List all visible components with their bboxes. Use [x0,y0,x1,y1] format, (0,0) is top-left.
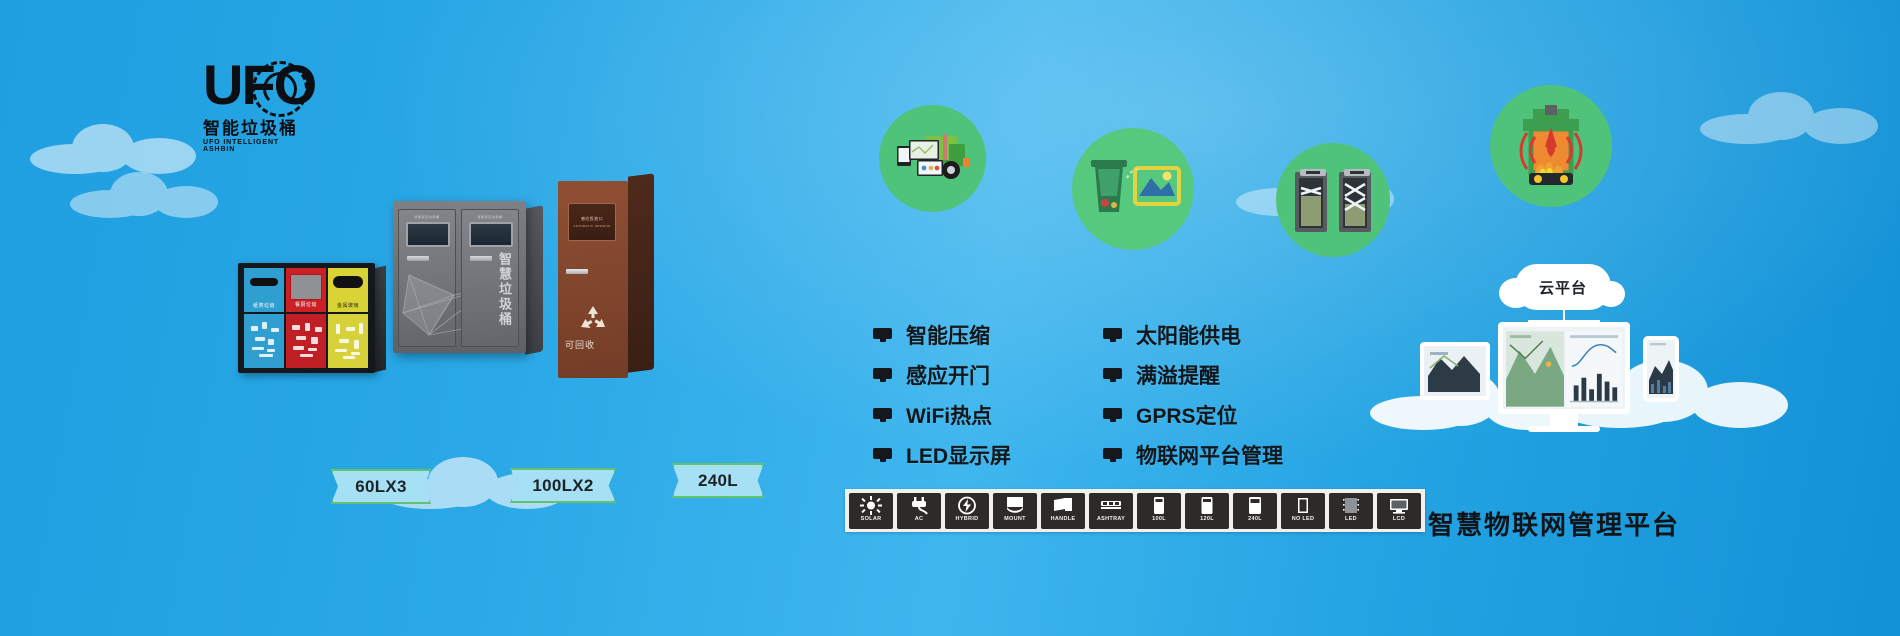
brown-screen-text: 感应投放口 AUTOMATIC OPENING [569,204,615,240]
device-tablet [1420,342,1490,400]
kitchen-graphic [289,318,323,364]
spec-chip-solar[interactable]: SOLAR [849,493,893,529]
brown-bin-side-panel [628,173,654,372]
brand-logo: UFO 智能垃圾桶 UFO INTELLIGENT ASHBIN [203,57,308,149]
spec-chip-handle[interactable]: HANDLE [1041,493,1085,529]
spec-chip-mount[interactable]: MOUNT [993,493,1037,529]
compression-icon [1287,164,1379,236]
brown-bin-face: 感应投放口 AUTOMATIC OPENING 可回收 [558,181,628,378]
metal-glass-graphic [331,318,365,364]
compartment-paper: 纸类垃圾 [244,268,284,368]
phone-screen [1647,340,1675,398]
cloud-platform-scene: 云平台 [1400,270,1730,470]
feature-label: 太阳能供电 [1136,320,1241,350]
lcd-icon [1387,496,1411,515]
spec-chip-label: 240L [1248,516,1262,522]
spec-chip-ac[interactable]: AC [897,493,941,529]
cloud-platform-tag: 云平台 [1515,264,1611,310]
feature-item: 感应开门 [873,362,1011,388]
product-three-compartment-bin: 纸类垃圾 餐厨垃圾 [238,263,375,373]
compartment-kitchen-label: 餐厨垃圾 [286,301,326,308]
monitor-bullet-icon [1103,368,1122,382]
monitor-screen [1503,327,1625,409]
compartment-kitchen-door [286,314,326,368]
gray-bin-door-right: 智能感应垃圾桶 智慧垃圾桶 [461,209,519,347]
monitor-base [1528,426,1600,432]
capacity-ribbon-240l: 240L [672,463,764,498]
feature-item: LED显示屏 [873,442,1011,468]
feature-list: 智能压缩 感应开门 WiFi热点 LED显示屏 太阳能供电 满溢提醒 [873,322,1283,468]
gray-bin-screen-left [406,222,450,247]
feature-label: 物联网平台管理 [1136,440,1283,470]
fleet-monitoring-icon [891,128,975,190]
feature-item: GPRS定位 [1103,402,1283,428]
brown-screen-caption: 感应投放口 [581,216,603,222]
compartment-metal-door [328,314,368,368]
metal-glass-slot [333,276,363,288]
spec-icon-strip: SOLAR AC HYBRID [845,489,1425,532]
spec-chip-led[interactable]: LED [1329,493,1373,529]
spec-chip-label: MOUNT [1004,516,1026,522]
mount-icon [1003,496,1027,515]
spec-chip-label: 120L [1200,516,1214,522]
feature-item: 太阳能供电 [1103,322,1283,348]
device-phone [1643,336,1679,402]
promo-banner: UFO 智能垃圾桶 UFO INTELLIGENT ASHBIN 纸类垃圾 [0,0,1900,636]
gray-screen-caption-right: 智能感应垃圾桶 [471,215,509,219]
monitor-bullet-icon [1103,448,1122,462]
paper-slot [250,278,278,286]
logo-chinese-name: 智能垃圾桶 [203,119,308,138]
bin-240l-icon [1243,496,1267,515]
compartment-kitchen-top: 餐厨垃圾 [286,268,326,312]
compartment-paper-top: 纸类垃圾 [244,268,284,312]
feature-label: LED显示屏 [906,440,1011,470]
capacity-ribbon-60lx3: 60LX3 [331,469,431,504]
tablet-screen [1424,346,1486,396]
spec-chip-label: HANDLE [1051,516,1076,522]
spec-chip-label: HYBRID [956,516,979,522]
gray-screen-caption-left: 智能感应垃圾桶 [408,215,446,219]
no-led-icon [1291,496,1315,515]
product-brown-recycle-bin: 感应投放口 AUTOMATIC OPENING 可回收 [558,173,654,378]
logo-mark: UFO [203,57,308,119]
phone-chart [1647,340,1675,398]
recycle-symbol-icon [577,303,609,335]
feature-item: WiFi热点 [873,402,1011,428]
feature-label: 智能压缩 [906,320,990,350]
brown-bin-screen: 感应投放口 AUTOMATIC OPENING [568,203,616,241]
spec-chip-label: 100L [1152,516,1166,522]
bin-100l-icon [1147,496,1171,515]
feature-circle-waste-sorting [1072,128,1194,250]
monitor-bullet-icon [1103,408,1122,422]
cloud-decoration [1700,90,1880,146]
spec-chip-100l[interactable]: 100L [1137,493,1181,529]
gray-bin-handle-right [470,256,492,261]
feature-item: 物联网平台管理 [1103,442,1283,468]
compartment-metal-label: 金属玻璃 [328,302,368,309]
monitor-bullet-icon [873,408,892,422]
feature-label: 满溢提醒 [1136,360,1220,390]
feature-circle-fleet-monitoring [879,105,986,212]
handle-icon [1051,496,1075,515]
compartment-kitchen: 餐厨垃圾 [286,268,326,368]
spec-chip-120l[interactable]: 120L [1185,493,1229,529]
spec-chip-label: NO LED [1292,516,1315,522]
monitor-stand [1550,414,1578,426]
bin-120l-icon [1195,496,1219,515]
dashboard-map-panel [1506,330,1564,408]
led-icon [1339,496,1363,515]
monitor-bullet-icon [1103,328,1122,342]
spec-chip-label: LCD [1393,516,1405,522]
feature-label: 感应开门 [906,360,990,390]
ashtray-icon [1099,496,1123,515]
monitor-bullet-icon [873,448,892,462]
dashboard-chart-panel [1566,330,1622,408]
logo-english-name: UFO INTELLIGENT ASHBIN [203,139,308,153]
bin-side-panel [374,266,386,373]
monitor-bullet-icon [873,328,892,342]
brown-bin-handle [566,269,588,274]
gray-bin-door-left: 智能感应垃圾桶 [398,209,456,347]
fire-alarm-icon [1505,103,1597,189]
compartment-paper-door [244,314,284,368]
capacity-ribbon-100lx2: 100LX2 [510,468,616,503]
cloud-decoration [70,170,220,220]
brown-bin-recycle-label: 可回收 [558,338,602,351]
feature-item: 满溢提醒 [1103,362,1283,388]
monitor-bullet-icon [873,368,892,382]
paper-graphic [247,318,281,364]
feature-item: 智能压缩 [873,322,1011,348]
spec-chip-240l[interactable]: 240L [1233,493,1277,529]
product-gray-smart-bin: 智能感应垃圾桶 智能感应垃圾桶 智慧垃圾桶 [393,201,526,353]
plug-icon [907,496,931,515]
compartment-metal-top: 金属玻璃 [328,268,368,312]
feature-label: GPRS定位 [1136,400,1238,430]
gray-bin-handle-left [407,256,429,261]
kitchen-panel [290,274,322,300]
feature-column-right: 太阳能供电 满溢提醒 GPRS定位 物联网平台管理 [1103,322,1283,468]
spec-chip-lcd[interactable]: LCD [1377,493,1421,529]
brown-screen-sub: AUTOMATIC OPENING [573,224,610,228]
feature-circle-fire-alarm [1490,85,1612,207]
gray-bin-body: 智能感应垃圾桶 智能感应垃圾桶 智慧垃圾桶 [393,201,526,353]
tablet-map-chart [1424,346,1486,396]
device-monitor [1498,322,1630,414]
spec-chip-label: AC [915,516,924,522]
gray-bin-screen-right [469,222,513,247]
spec-chip-ashtray[interactable]: ASHTRAY [1089,493,1133,529]
platform-title: 智慧物联网管理平台 [1428,505,1680,542]
feature-column-left: 智能压缩 感应开门 WiFi热点 LED显示屏 [873,322,1011,468]
hybrid-bolt-icon [955,496,979,515]
feature-circle-compression [1276,143,1390,257]
compartment-metal-glass: 金属玻璃 [328,268,368,368]
compartment-paper-label: 纸类垃圾 [244,302,284,309]
spec-chip-label: LED [1345,516,1357,522]
logo-ring-icon [252,61,308,117]
waste-sorting-icon [1083,156,1183,222]
sun-icon [859,496,883,515]
spec-chip-no-led[interactable]: NO LED [1281,493,1325,529]
gray-bin-side-text: 智慧垃圾桶 [498,252,514,327]
spec-chip-label: ASHTRAY [1097,516,1125,522]
feature-label: WiFi热点 [906,400,992,430]
spec-chip-hybrid[interactable]: HYBRID [945,493,989,529]
gray-bin-side-panel [525,205,543,354]
spec-chip-label: SOLAR [861,516,882,522]
